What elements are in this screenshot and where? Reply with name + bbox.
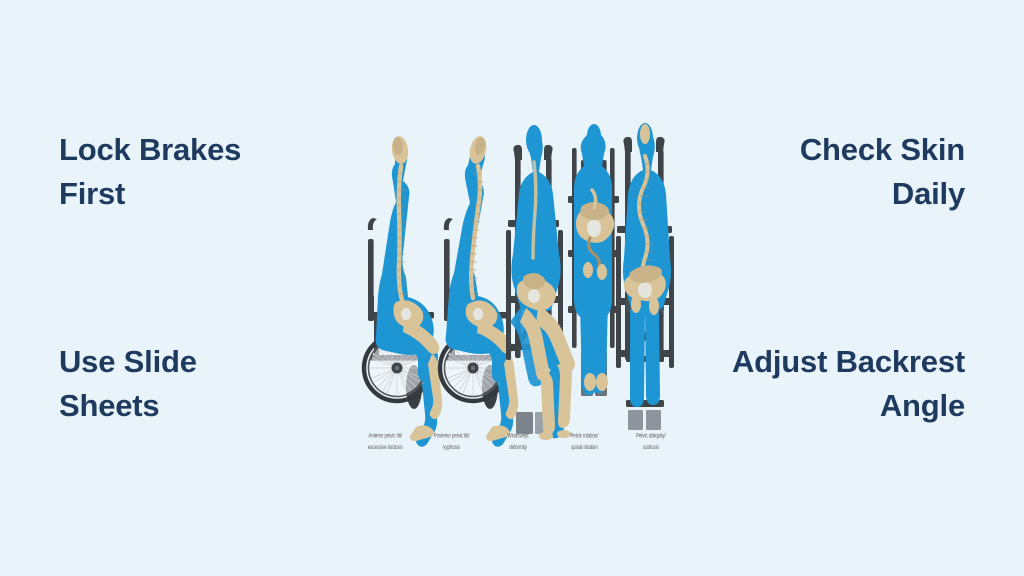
wheelchair-posture-illustration: [352, 100, 684, 482]
figure-caption-windswept-deformity: Windswept deformity: [485, 430, 551, 454]
callout-bottom-left: Use Slide Sheets: [59, 340, 349, 428]
figure-caption-pelvic-rotation: Pelvic rotation/ spinal rotation: [551, 430, 617, 454]
callout-top-right: Check Skin Daily: [665, 128, 965, 216]
figure-caption-row: Anterior pelvic tilt/ excessive lordosis…: [352, 430, 684, 474]
slide-canvas: Lock Brakes First Check Skin Daily Use S…: [0, 0, 1024, 576]
figure-caption-posterior-pelvic-tilt: Posterior pelvic tilt/ kyphosis: [418, 430, 484, 454]
callout-top-left: Lock Brakes First: [59, 128, 349, 216]
figure-caption-pelvic-obliquity: Pelvic obliquity/ scoliosis: [618, 430, 684, 454]
callout-bottom-right: Adjust Backrest Angle: [655, 340, 965, 428]
figure-caption-anterior-pelvic-tilt: Anterior pelvic tilt/ excessive lordosis: [352, 430, 418, 454]
